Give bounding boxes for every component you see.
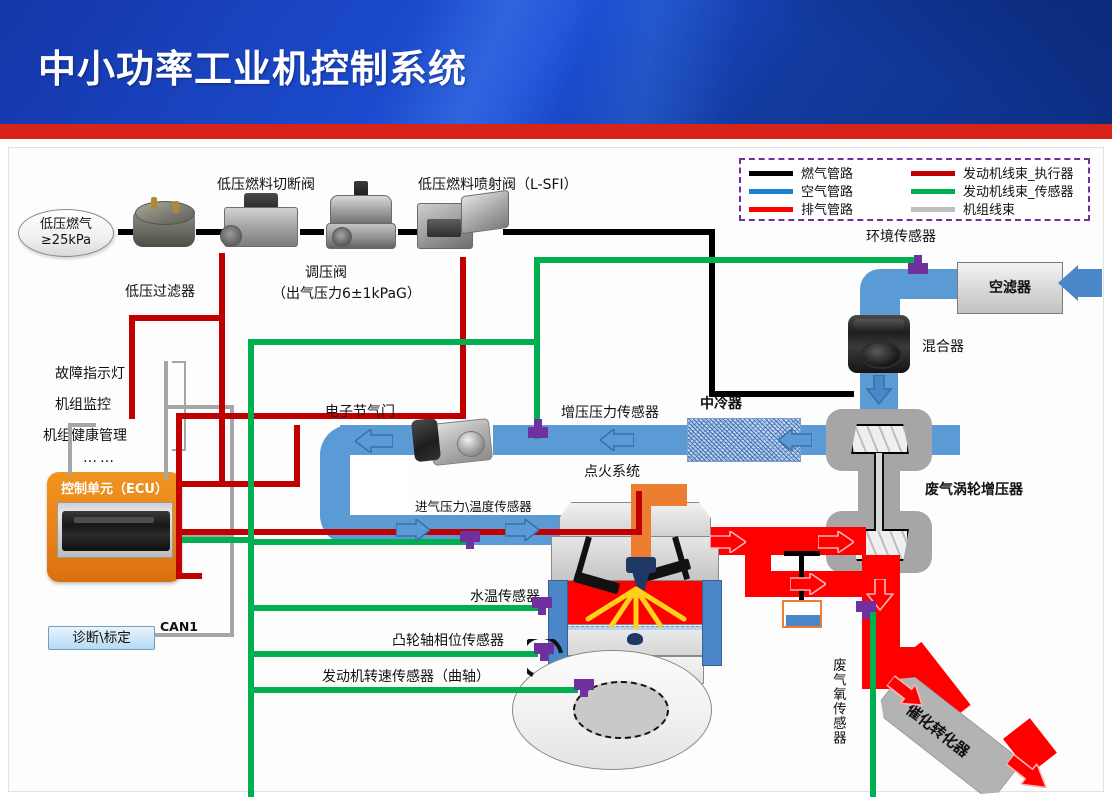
air-intake-arrow (1058, 265, 1102, 305)
genset-wire-to-diag (155, 633, 234, 637)
legend-item-air: 空气管路 (749, 182, 909, 200)
fuel-shutoff-valve (218, 191, 304, 253)
throttle-plate (457, 431, 485, 457)
shutoff-valve-label: 低压燃料切断阀 (217, 177, 315, 195)
genset-wire-left-top (68, 423, 96, 427)
legend: 燃气管路 空气管路 排气管路 发动机线束_执行器 发动机线束 (739, 158, 1090, 221)
legend-item-actuator: 发动机线束_执行器 (911, 164, 1091, 182)
actuator-wire-throttle-h (182, 413, 466, 419)
air-flow-arrow-right-2 (505, 519, 539, 541)
exhaust-flow-arrow-right-2 (818, 531, 854, 553)
mixer-label: 混合器 (922, 339, 964, 357)
injector-label: 低压燃料喷射阀（L-SFI） (418, 177, 578, 195)
sensor-wire-ambient (718, 257, 914, 263)
air-flow-arrow-left-2 (600, 429, 634, 451)
actuator-wire-shutoff-h (219, 481, 299, 487)
ecu-label: 控制单元（ECU） (47, 478, 182, 497)
low-pressure-filter (131, 195, 197, 251)
electronic-throttle-body (413, 417, 493, 467)
genset-wire-vertical-2 (230, 405, 234, 637)
actuator-wire-injector (460, 257, 466, 419)
legend-column-left: 燃气管路 空气管路 排气管路 (749, 164, 909, 218)
monitor-item-mil: 故障指示灯 (55, 366, 125, 384)
shutoff-valve-port (220, 225, 242, 247)
sensor-wire-o2-v (870, 611, 876, 797)
air-flow-arrow-down (866, 375, 892, 405)
slide-header: 中小功率工业机控制系统 (0, 0, 1112, 124)
combustion-flame (580, 585, 692, 629)
map-sensor-connector (460, 531, 480, 542)
turbo-label: 废气涡轮增压器 (925, 482, 1023, 500)
air-flow-arrow-right-1 (396, 519, 430, 541)
air-pipe-ubend-hole (350, 455, 410, 515)
legend-label-air: 空气管路 (801, 181, 853, 200)
air-flow-arrow-left-3 (355, 429, 393, 453)
ecu-module[interactable]: 控制单元（ECU） (47, 472, 182, 582)
ambient-sensor-label: 环境传感器 (866, 229, 936, 247)
throttle-label: 电子节气门 (325, 404, 395, 422)
sensor-wire-map-h (248, 539, 470, 545)
ignition-system-label: 点火系统 (584, 464, 640, 482)
monitor-item-health: 机组健康管理 (43, 428, 127, 446)
boost-pressure-sensor-connector (528, 427, 548, 438)
regulator-label-line2: （出气压力6±1kPaG） (272, 286, 421, 304)
sensor-wire-boost-h (534, 257, 724, 263)
pressure-regulator (320, 181, 402, 253)
actuator-wire-riser-1 (294, 425, 300, 487)
genset-wire-left (68, 423, 72, 475)
sensor-wire-ecu (182, 537, 254, 543)
actuator-wire-ignition-v (636, 491, 642, 533)
injector-rail (461, 190, 509, 235)
actuator-wire-ecu-connect (176, 573, 202, 579)
piston-pin (627, 633, 643, 645)
map-sensor-label: 进气压力\温度传感器 (415, 499, 532, 515)
regulator-label-line1: 调压阀 (305, 265, 347, 283)
actuator-wire-ecu-1 (182, 481, 226, 487)
air-filter-box: 空滤器 (957, 262, 1063, 314)
cam-phase-sensor-connector (534, 643, 554, 654)
regulator-dome (330, 195, 392, 225)
sensor-wire-trunk-top (248, 339, 534, 345)
coolant-jacket-right (702, 580, 722, 666)
diagnostic-calibration-box[interactable]: 诊断\标定 (48, 626, 155, 650)
gas-line-seg-inj (503, 229, 715, 235)
actuator-wire-shutoff (219, 253, 225, 487)
coolant-temp-sensor-connector (532, 597, 552, 608)
wastegate-actuator (782, 600, 822, 628)
oxygen-sensor-connector (856, 601, 876, 612)
crank-speed-sensor-connector (574, 679, 594, 690)
turbo-shaft (874, 453, 884, 531)
low-pressure-gas-source: 低压燃气 ≥25kPa (18, 209, 114, 257)
header-rule (0, 124, 1112, 139)
gas-air-mixer (848, 315, 910, 373)
boost-sensor-label: 增压压力传感器 (561, 405, 659, 423)
actuator-wire-trunk (176, 413, 182, 579)
legend-swatch-gas (749, 171, 793, 176)
cam-sensor-label: 凸轮轴相位传感器 (392, 633, 504, 651)
lpg-label-line1: 低压燃气 (19, 217, 113, 233)
exhaust-flow-arrow-right-1 (710, 531, 746, 553)
legend-label-sensor: 发动机线束_传感器 (963, 181, 1074, 200)
filter-label: 低压过滤器 (125, 284, 195, 302)
sensor-wire-cam (248, 651, 538, 657)
legend-item-exhaust: 排气管路 (749, 200, 909, 218)
legend-label-exhaust: 排气管路 (801, 199, 853, 218)
legend-swatch-actuator (911, 171, 955, 176)
actuator-wire-top (129, 315, 221, 321)
sensor-wire-boost-v (534, 257, 540, 439)
sensor-wire-trunk (248, 339, 254, 797)
actuator-wire-left-down (129, 315, 135, 419)
legend-item-gas: 燃气管路 (749, 164, 909, 182)
ambient-sensor-connector (908, 263, 928, 274)
intercooler-label: 中冷器 (700, 396, 742, 414)
monitor-item-genset-monitor: 机组监控 (55, 397, 111, 415)
legend-swatch-genset (911, 207, 955, 212)
legend-swatch-sensor (911, 189, 955, 194)
legend-item-sensor: 发动机线束_传感器 (911, 182, 1091, 200)
monitor-item-ellipsis: …… (83, 450, 117, 468)
regulator-port (332, 227, 352, 247)
legend-item-genset: 机组线束 (911, 200, 1091, 218)
page-title: 中小功率工业机控制系统 (38, 38, 467, 93)
lpg-label-line2: ≥25kPa (19, 233, 113, 249)
crank-sensor-label: 发动机转速传感器（曲轴） (322, 669, 490, 687)
legend-label-genset: 机组线束 (963, 199, 1015, 218)
exhaust-pipe-bypass-drop (745, 527, 771, 575)
oxygen-sensor-label: 废气氧传感器 (829, 658, 846, 745)
exhaust-flow-arrow-right-3 (790, 573, 826, 595)
throttle-motor (411, 418, 441, 462)
filter-stud-right (173, 201, 179, 213)
air-pipe-intercooler-out (640, 425, 690, 455)
legend-swatch-exhaust (749, 207, 793, 212)
spark-plug-body (626, 557, 656, 573)
fuel-injection-valve (417, 191, 509, 257)
turbo-compressor-wheel (851, 424, 909, 454)
sensor-wire-crank (248, 687, 578, 693)
filter-stud-left (151, 197, 157, 209)
legend-column-right: 发动机线束_执行器 发动机线束_传感器 机组线束 (911, 164, 1091, 218)
slide-page: 中小功率工业机控制系统 燃气管路 空气管路 排气管路 (0, 0, 1112, 797)
legend-label-actuator: 发动机线束_执行器 (963, 163, 1074, 182)
coolant-sensor-label: 水温传感器 (470, 589, 540, 607)
diagram-canvas: 燃气管路 空气管路 排气管路 发动机线束_执行器 发动机线束 (0, 139, 1112, 797)
ecu-photo (57, 502, 173, 558)
air-flow-arrow-left-1 (778, 429, 812, 451)
genset-wire-vertical-1 (164, 361, 168, 479)
legend-swatch-air (749, 189, 793, 194)
injector-slot (427, 219, 461, 237)
gas-line-down (709, 229, 715, 397)
legend-label-gas: 燃气管路 (801, 163, 853, 182)
